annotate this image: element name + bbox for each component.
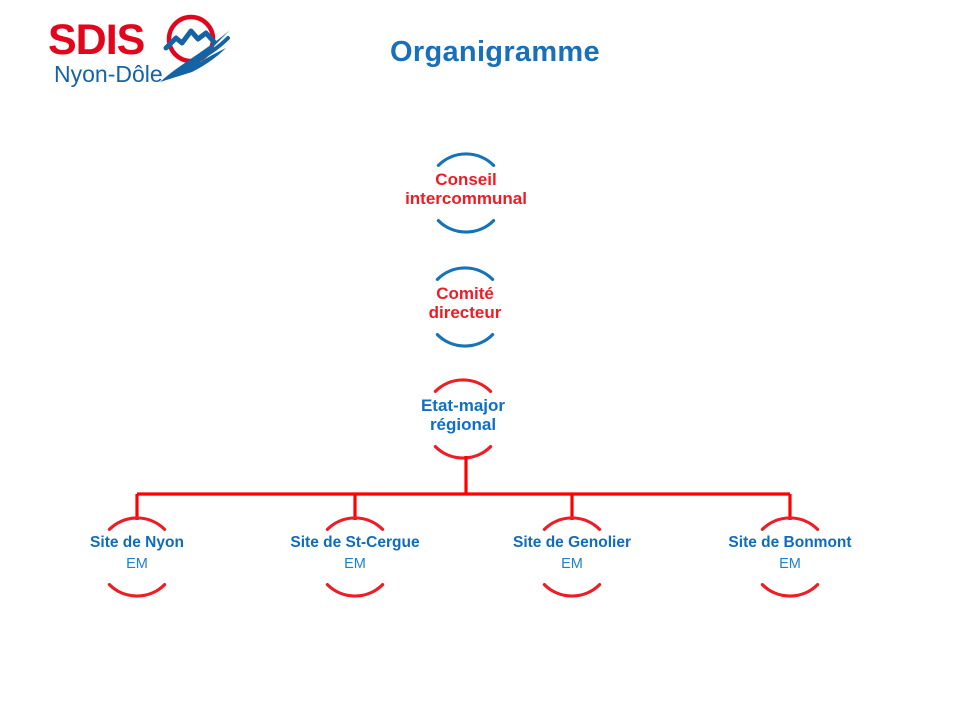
- node-label-em: EM: [245, 556, 465, 572]
- node-site-de-genolier[interactable]: Site de Genolier EM: [462, 534, 682, 573]
- node-label-line1: Comité: [355, 284, 575, 303]
- node-label-line1: Site de St-Cergue: [245, 534, 465, 551]
- node-label-line1: Conseil: [356, 170, 576, 189]
- node-conseil-intercommunal[interactable]: Conseil intercommunal: [356, 170, 576, 208]
- node-site-de-bonmont[interactable]: Site de Bonmont EM: [680, 534, 900, 573]
- connector-lines: [137, 456, 790, 520]
- node-label-line1: Site de Bonmont: [680, 534, 900, 551]
- node-label-line1: Site de Genolier: [462, 534, 682, 551]
- node-label-em: EM: [462, 556, 682, 572]
- node-label-line1: Etat-major: [353, 396, 573, 415]
- node-site-de-nyon[interactable]: Site de Nyon EM: [27, 534, 247, 573]
- node-label-line2: directeur: [355, 303, 575, 322]
- node-site-de-st-cergue[interactable]: Site de St-Cergue EM: [245, 534, 465, 573]
- org-chart-graphics: [0, 0, 960, 720]
- node-label-line2: intercommunal: [356, 189, 576, 208]
- node-label-line1: Site de Nyon: [27, 534, 247, 551]
- org-chart: Conseil intercommunal Comité directeur E…: [0, 0, 960, 720]
- node-label-em: EM: [680, 556, 900, 572]
- node-etat-major-regional[interactable]: Etat-major régional: [353, 396, 573, 434]
- node-comite-directeur[interactable]: Comité directeur: [355, 284, 575, 322]
- slide-canvas: SDIS Nyon-Dôle Organigramme: [0, 0, 960, 720]
- node-label-em: EM: [27, 556, 247, 572]
- node-label-line2: régional: [353, 415, 573, 434]
